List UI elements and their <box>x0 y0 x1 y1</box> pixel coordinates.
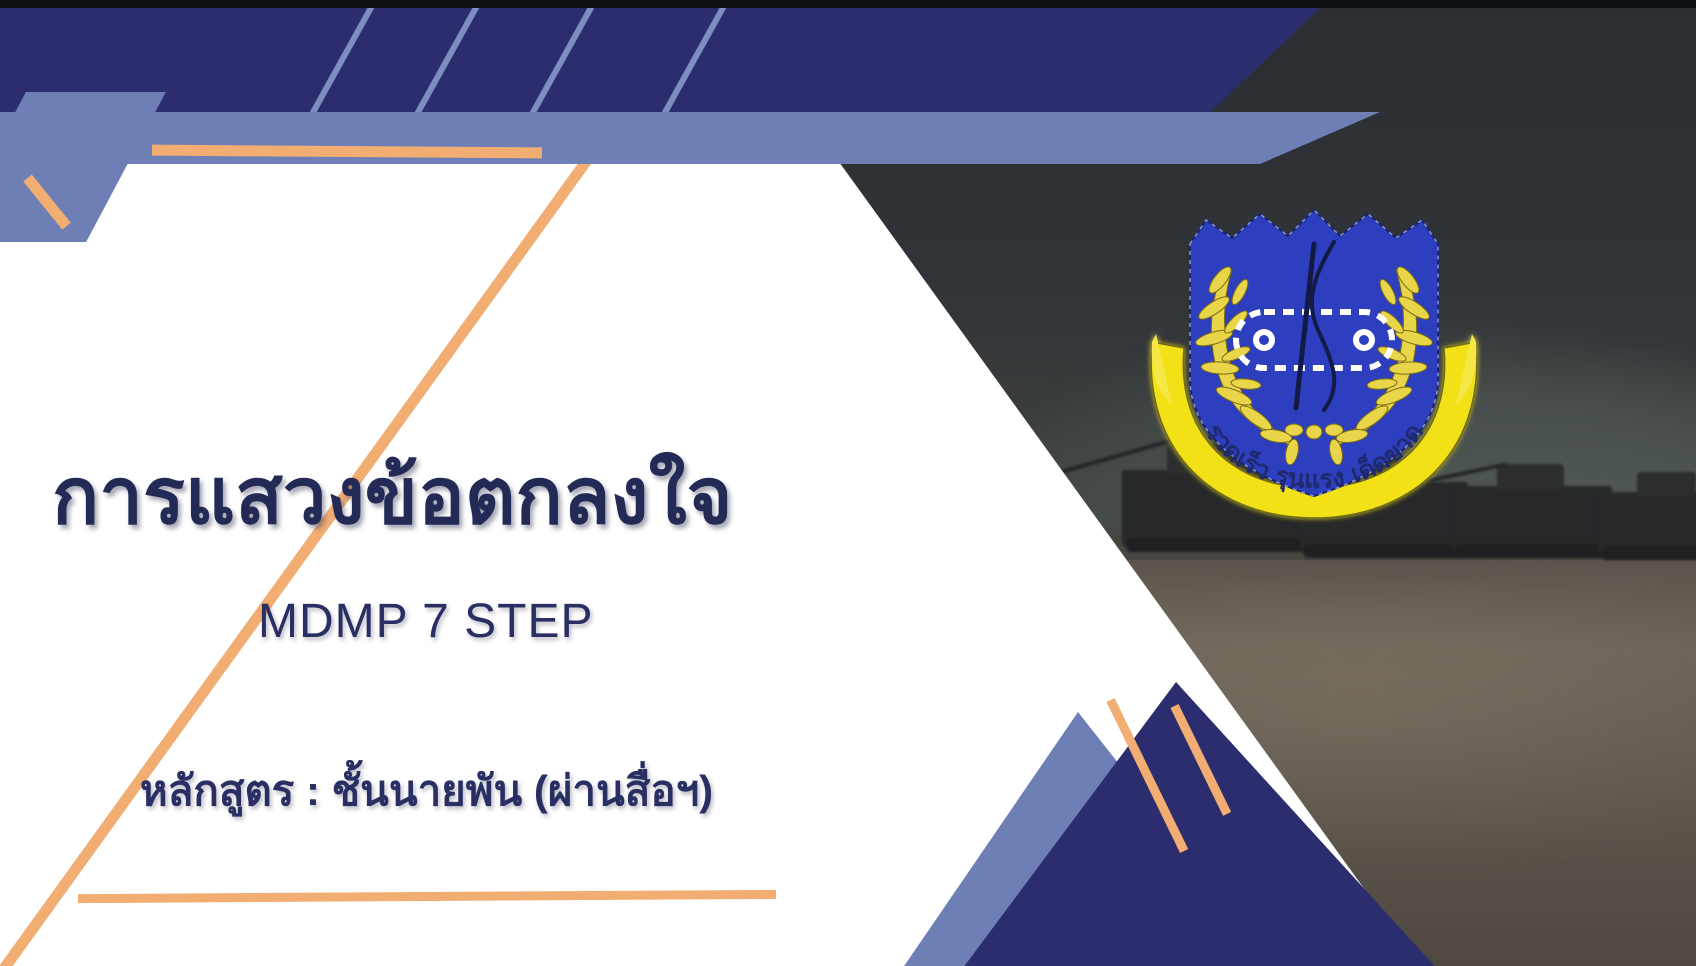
course-label-thai: หลักสูตร : ชั้นนายพัน (ผ่านสื่อฯ) <box>140 758 713 824</box>
unit-crest-emblem: รวดเร็ว รุนแรง เด็ดขาด <box>1128 196 1498 526</box>
armored-vehicle-4 <box>1598 492 1696 554</box>
blue-accent-band <box>0 112 1380 164</box>
top-letterbox-bar <box>0 0 1696 8</box>
presentation-title-slide: รวดเร็ว รุนแรง เด็ดขาด การแสวงข้อตกลงใจ … <box>0 0 1696 966</box>
slide-subtitle-english: MDMP 7 STEP <box>258 594 594 649</box>
slide-title-thai: การแสวงข้อตกลงใจ <box>52 434 932 558</box>
